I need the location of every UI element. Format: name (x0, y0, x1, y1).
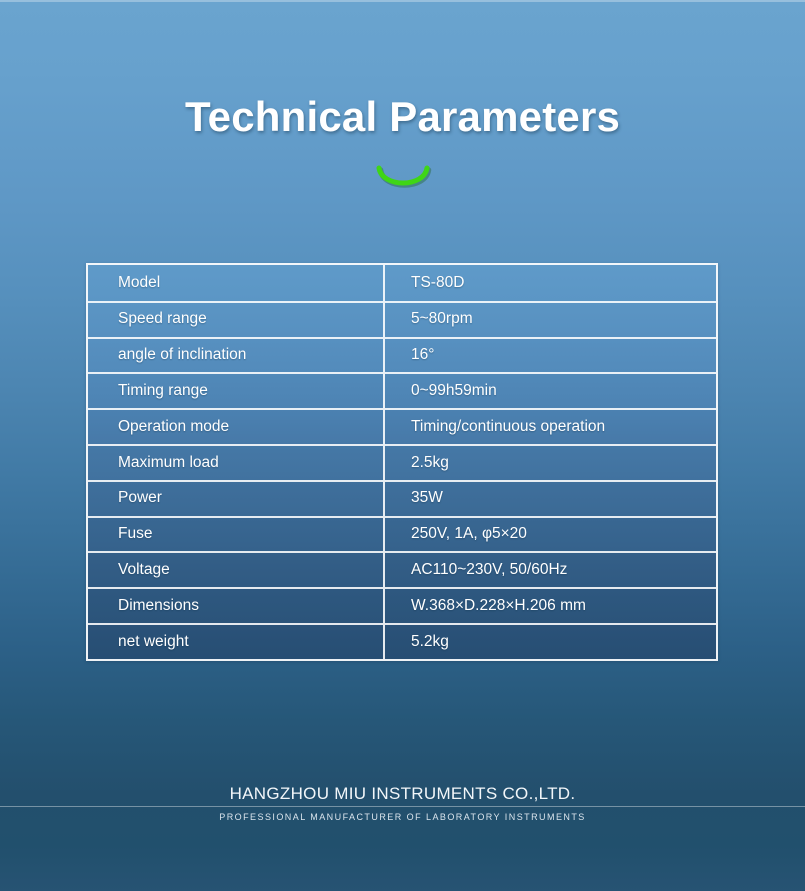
parameter-value: AC110~230V, 50/60Hz (385, 551, 716, 587)
technical-parameters-table: Model TS-80D Speed range 5~80rpm angle o… (86, 263, 718, 661)
table-row: angle of inclination 16° (88, 337, 716, 373)
parameter-value: 16° (385, 337, 716, 373)
green-arc-swoosh-icon (373, 162, 433, 194)
table-row: Fuse 250V, 1A, φ5×20 (88, 516, 716, 552)
parameter-value: TS-80D (385, 265, 716, 301)
parameter-value: 5~80rpm (385, 301, 716, 337)
parameter-value: 0~99h59min (385, 372, 716, 408)
parameter-label: Model (88, 265, 385, 301)
parameter-label: Fuse (88, 516, 385, 552)
table-row: Power 35W (88, 480, 716, 516)
parameter-value: W.368×D.228×H.206 mm (385, 587, 716, 623)
parameter-label: angle of inclination (88, 337, 385, 373)
table-row: Maximum load 2.5kg (88, 444, 716, 480)
page-title: Technical Parameters (0, 93, 805, 141)
footer-tagline: PROFESSIONAL MANUFACTURER OF LABORATORY … (0, 812, 805, 822)
slide-canvas: Technical Parameters Model TS-80D Speed … (0, 0, 805, 891)
table-row: Speed range 5~80rpm (88, 301, 716, 337)
parameter-value: Timing/continuous operation (385, 408, 716, 444)
table-row: Timing range 0~99h59min (88, 372, 716, 408)
table-row: Operation mode Timing/continuous operati… (88, 408, 716, 444)
table-row: net weight 5.2kg (88, 623, 716, 659)
table-row: Voltage AC110~230V, 50/60Hz (88, 551, 716, 587)
table-body: Model TS-80D Speed range 5~80rpm angle o… (88, 265, 716, 659)
table-row: Model TS-80D (88, 265, 716, 301)
parameter-value: 2.5kg (385, 444, 716, 480)
footer-divider (0, 806, 805, 807)
table-row: Dimensions W.368×D.228×H.206 mm (88, 587, 716, 623)
parameter-label: Dimensions (88, 587, 385, 623)
parameter-label: Timing range (88, 372, 385, 408)
parameter-label: Maximum load (88, 444, 385, 480)
parameter-label: Voltage (88, 551, 385, 587)
parameter-label: net weight (88, 623, 385, 659)
parameter-value: 250V, 1A, φ5×20 (385, 516, 716, 552)
parameter-label: Power (88, 480, 385, 516)
parameter-value: 35W (385, 480, 716, 516)
parameter-label: Speed range (88, 301, 385, 337)
parameter-value: 5.2kg (385, 623, 716, 659)
parameter-label: Operation mode (88, 408, 385, 444)
footer-company-name: HANGZHOU MIU INSTRUMENTS CO.,LTD. (0, 784, 805, 804)
